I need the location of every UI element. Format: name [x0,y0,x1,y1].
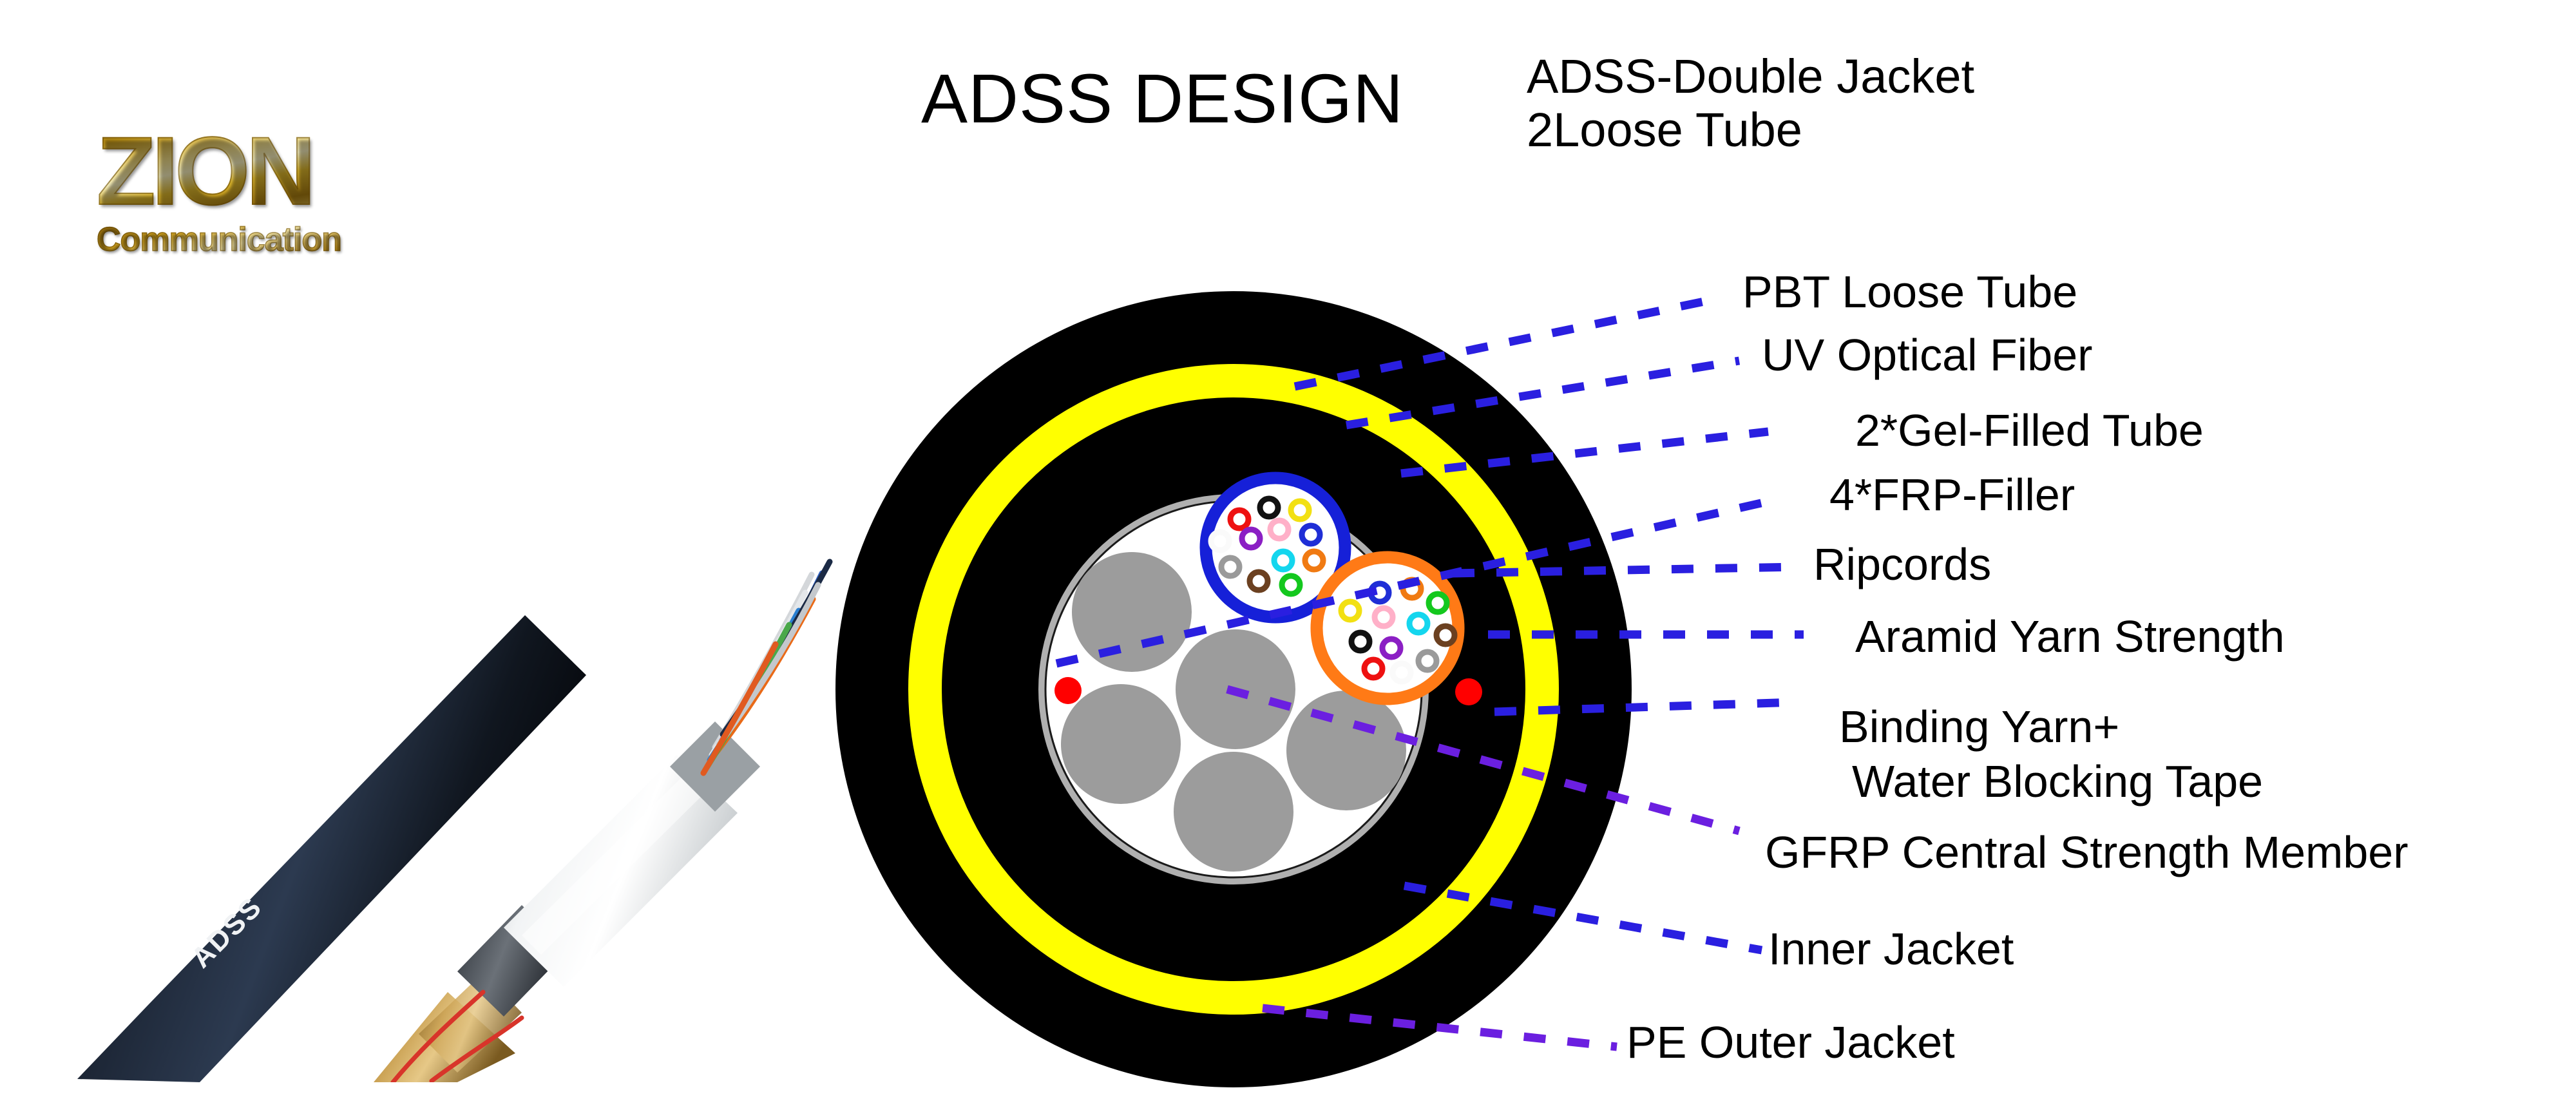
photo-fiber-bundle [703,562,830,773]
callout-label-pe-outer-jacket: PE Outer Jacket [1627,1018,1955,1067]
subtitle-line-1: ADSS-Double Jacket [1527,50,1974,104]
cable-photograph: ADSS [71,322,850,1082]
frp-filler [1174,752,1293,872]
callout-label-water-blocking: Water Blocking Tape [1852,757,2263,807]
orange-loose-tube [1317,557,1458,699]
callout-label-aramid-yarn: Aramid Yarn Strength [1855,612,2285,662]
callout-label-inner-jacket: Inner Jacket [1768,924,2014,974]
subtitle-line-2: 2Loose Tube [1527,104,1974,157]
frp-filler [1286,691,1406,810]
callout-label-gfrp-central: GFRP Central Strength Member [1765,828,2409,877]
page-subtitle: ADSS-Double Jacket 2Loose Tube [1527,50,1974,157]
logo-tagline: Communication [97,220,432,259]
callout-label-pbt-loose-tube: PBT Loose Tube [1742,267,2077,317]
ripcord [1455,678,1482,705]
ripcord [1054,677,1082,704]
frp-filler [1072,552,1192,672]
company-logo: ZION Communication [97,122,432,271]
logo-wordmark: ZION [97,122,432,219]
callout-label-binding-yarn: Binding Yarn+ [1839,702,2119,752]
callout-label-gel-filled-tube: 2*Gel-Filled Tube [1855,406,2204,455]
callout-label-uv-optical-fiber: UV Optical Fiber [1762,330,2092,380]
callout-label-ripcords: Ripcords [1813,540,1991,589]
page-title: ADSS DESIGN [921,58,1404,138]
callout-label-frp-filler: 4*FRP-Filler [1829,470,2075,520]
diagram-canvas: ZION Communication ADSS DESIGN ADSS-Doub… [0,0,2576,1104]
frp-filler [1061,684,1181,804]
cable-cross-section [818,277,1649,1108]
frp-filler [1176,629,1295,749]
